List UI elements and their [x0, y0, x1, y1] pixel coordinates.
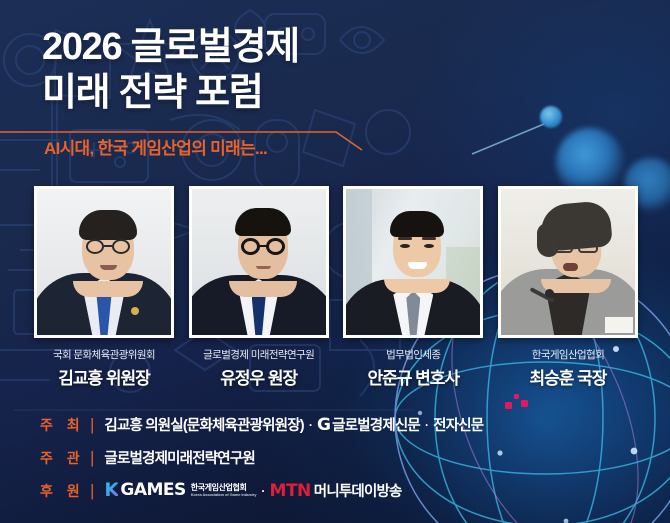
- credit-label-host: 주 최: [40, 415, 90, 435]
- speaker-photo-3: [346, 189, 480, 335]
- poster-title-block: 2026 글로벌경제 미래 전략 포럼: [42, 26, 462, 114]
- credit-text-organizer: 글로벌경제미래전략연구원: [104, 447, 254, 468]
- glow-node-dot: [540, 106, 562, 128]
- speaker-card-4: 한국게임산업협회 최승훈 국장: [498, 186, 638, 389]
- speaker-name-2: 유정우 원장: [189, 364, 329, 389]
- title-line-1: 2026 글로벌경제: [42, 26, 462, 68]
- kgames-logo: K GAMES 한국게임산업협회 Korea Association of Ga…: [104, 481, 256, 500]
- speaker-org-1: 국회 문화체육관광위원회: [34, 347, 174, 362]
- speaker-card-1: 국회 문화체육관광위원회 김교흥 위원장: [34, 186, 174, 389]
- mtn-logo-wordmark: MTN: [270, 481, 311, 501]
- credit-host-sep-1: ·: [307, 418, 314, 432]
- speaker-photo-frame-1: [34, 186, 174, 338]
- kgames-wordmark: GAMES: [120, 482, 185, 499]
- speaker-card-3: 법무법인세종 안준규 변호사: [343, 186, 483, 389]
- credit-divider-organizer: |: [90, 448, 94, 468]
- poster-subtitle: AI시대, 한국 게임산업의 미래는...: [44, 134, 267, 159]
- speaker-card-2: 글로벌경제 미래전략연구원 유정우 원장: [189, 186, 329, 389]
- credit-organizer-institute: 글로벌경제미래전략연구원: [104, 447, 254, 468]
- speaker-photo-frame-3: [343, 186, 483, 338]
- speaker-name-4: 최승훈 국장: [498, 364, 638, 389]
- speaker-name-1: 김교흥 위원장: [34, 364, 174, 389]
- credit-host-etnews: 전자신문: [433, 414, 483, 435]
- credit-text-host: 김교흥 의원실(문화체육관광위원장) · G 글로벌경제신문 · 전자신문: [104, 414, 483, 435]
- global-economy-g-logo-icon: G: [317, 417, 330, 434]
- speaker-photo-frame-2: [189, 186, 329, 338]
- credit-host-globaleconomy: 글로벌경제신문: [332, 414, 420, 435]
- speaker-org-3: 법무법인세종: [343, 347, 483, 362]
- credit-text-sponsor: K GAMES 한국게임산업협회 Korea Association of Ga…: [104, 480, 401, 501]
- forum-poster: 2026 글로벌경제 미래 전략 포럼 AI시대, 한국 게임산업의 미래는..…: [0, 0, 670, 523]
- speaker-photo-4: [501, 189, 635, 335]
- credit-label-sponsor: 후 원: [40, 481, 90, 501]
- title-line-2: 미래 전략 포럼: [42, 72, 462, 114]
- credit-sponsor-mtn-korean: 머니투데이방송: [314, 480, 402, 501]
- credits-block: 주 최 | 김교흥 의원실(문화체육관광위원장) · G 글로벌경제신문 · 전…: [40, 408, 640, 507]
- speaker-photo-frame-4: [498, 186, 638, 338]
- speaker-name-3: 안준규 변호사: [343, 364, 483, 389]
- kgames-k-letter-icon: K: [104, 481, 118, 500]
- speaker-org-2: 글로벌경제 미래전략연구원: [189, 347, 329, 362]
- credit-row-host: 주 최 | 김교흥 의원실(문화체육관광위원장) · G 글로벌경제신문 · 전…: [40, 408, 640, 441]
- credit-label-organizer: 주 관: [40, 448, 90, 468]
- credit-host-office: 김교흥 의원실(문화체육관광위원장): [104, 414, 303, 435]
- credit-row-sponsor: 후 원 | K GAMES 한국게임산업협회 Korea Association…: [40, 474, 640, 507]
- credit-sponsor-sep-1: ·: [259, 484, 266, 498]
- speaker-org-4: 한국게임산업협회: [498, 347, 638, 362]
- speakers-row: 국회 문화체육관광위원회 김교흥 위원장: [34, 186, 638, 389]
- kgames-english-line2: Korea Association of Game Industry: [191, 493, 257, 497]
- kgames-korean-name: 한국게임산업협회 Korea Association of Game Indus…: [191, 484, 257, 497]
- credit-host-sep-2: ·: [423, 418, 430, 432]
- speaker-photo-1: [37, 189, 171, 335]
- credit-divider-sponsor: |: [90, 481, 94, 501]
- credit-divider-host: |: [90, 415, 94, 435]
- network-node-line-decoration: [470, 118, 550, 158]
- credit-row-organizer: 주 관 | 글로벌경제미래전략연구원: [40, 441, 640, 474]
- speaker-photo-2: [192, 189, 326, 335]
